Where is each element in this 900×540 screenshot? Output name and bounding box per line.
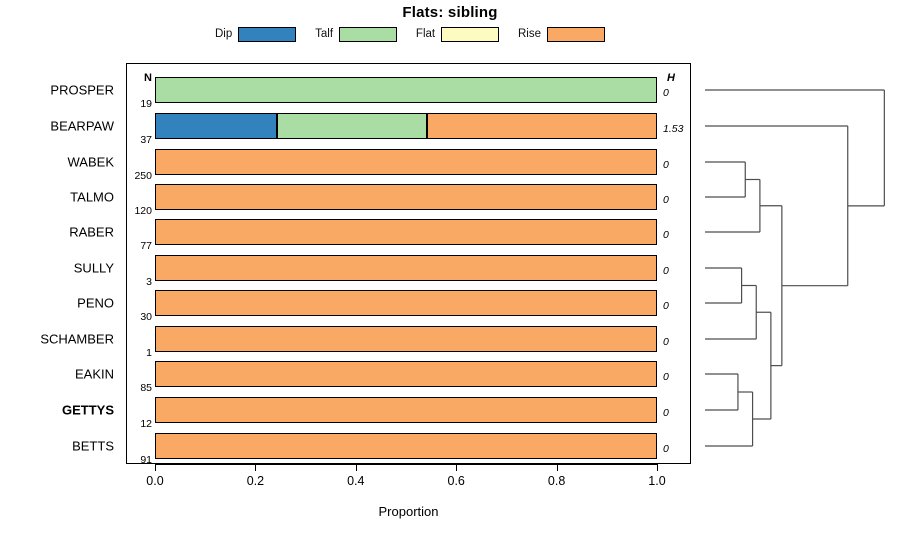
x-tick-label: 0.0 <box>146 474 163 488</box>
bar-segment-rise[interactable] <box>155 361 657 387</box>
legend-item-rise[interactable]: Rise <box>518 27 605 42</box>
bar-row-betts[interactable] <box>155 433 657 459</box>
chart-root: Flats: sibling DipTalfFlatRise PROSPERBE… <box>0 0 900 540</box>
h-value-sully: 0 <box>663 265 669 277</box>
legend-label: Talf <box>315 28 333 40</box>
n-value-bearpaw: 37 <box>140 134 152 146</box>
legend-label: Flat <box>416 28 435 40</box>
x-tick-label: 0.6 <box>447 474 464 488</box>
n-value-talmo: 120 <box>134 205 152 217</box>
x-axis-title: Proportion <box>126 504 691 519</box>
bar-row-gettys[interactable] <box>155 397 657 423</box>
x-tick <box>155 464 156 471</box>
n-value-sully: 3 <box>146 276 152 288</box>
legend-swatch-rise <box>547 27 605 42</box>
n-value-peno: 30 <box>140 311 152 323</box>
x-tick-label: 0.8 <box>548 474 565 488</box>
h-value-schamber: 0 <box>663 336 669 348</box>
legend-label: Rise <box>518 28 541 40</box>
h-value-prosper: 0 <box>663 87 669 99</box>
bar-row-schamber[interactable] <box>155 326 657 352</box>
category-label-sully: SULLY <box>74 261 114 276</box>
bar-row-raber[interactable] <box>155 219 657 245</box>
bar-segment-rise[interactable] <box>155 219 657 245</box>
bar-segment-rise[interactable] <box>427 113 657 139</box>
dendrogram <box>700 63 900 464</box>
h-value-betts: 0 <box>663 443 669 455</box>
bar-row-wabek[interactable] <box>155 149 657 175</box>
n-value-wabek: 250 <box>134 170 152 182</box>
category-label-eakin: EAKIN <box>75 367 114 382</box>
legend-label: Dip <box>215 28 232 40</box>
bar-segment-rise[interactable] <box>155 326 657 352</box>
x-tick <box>255 464 256 471</box>
bar-segment-talf[interactable] <box>155 77 657 103</box>
bar-segment-dip[interactable] <box>155 113 277 139</box>
category-label-wabek: WABEK <box>68 155 114 170</box>
bar-segment-talf[interactable] <box>277 113 427 139</box>
h-value-wabek: 0 <box>663 159 669 171</box>
h-value-raber: 0 <box>663 229 669 241</box>
n-value-eakin: 85 <box>140 382 152 394</box>
x-tick-label: 0.4 <box>347 474 364 488</box>
x-tick <box>456 464 457 471</box>
category-label-betts: BETTS <box>72 439 114 454</box>
category-label-bearpaw: BEARPAW <box>50 119 114 134</box>
bar-row-sully[interactable] <box>155 255 657 281</box>
h-value-peno: 0 <box>663 300 669 312</box>
x-axis-line <box>155 464 657 465</box>
category-label-prosper: PROSPER <box>50 83 114 98</box>
legend-item-talf[interactable]: Talf <box>315 27 397 42</box>
bar-segment-rise[interactable] <box>155 255 657 281</box>
legend-swatch-talf <box>339 27 397 42</box>
bar-row-prosper[interactable] <box>155 77 657 103</box>
h-value-gettys: 0 <box>663 407 669 419</box>
h-value-talmo: 0 <box>663 194 669 206</box>
bar-segment-rise[interactable] <box>155 290 657 316</box>
bar-segment-rise[interactable] <box>155 149 657 175</box>
n-value-prosper: 19 <box>140 98 152 110</box>
bar-row-bearpaw[interactable] <box>155 113 657 139</box>
h-column-header: H <box>667 72 675 84</box>
category-label-peno: PENO <box>77 296 114 311</box>
bar-row-peno[interactable] <box>155 290 657 316</box>
n-value-gettys: 12 <box>140 418 152 430</box>
x-tick <box>657 464 658 471</box>
x-tick-label: 1.0 <box>648 474 665 488</box>
bar-segment-rise[interactable] <box>155 184 657 210</box>
category-label-schamber: SCHAMBER <box>40 332 114 347</box>
category-label-gettys: GETTYS <box>62 403 114 418</box>
h-value-bearpaw: 1.53 <box>663 123 683 135</box>
bar-row-eakin[interactable] <box>155 361 657 387</box>
h-column: H01.53000000000 <box>657 63 691 464</box>
n-value-raber: 77 <box>140 240 152 252</box>
category-label-raber: RABER <box>69 225 114 240</box>
bar-segment-rise[interactable] <box>155 433 657 459</box>
x-tick <box>557 464 558 471</box>
x-tick <box>356 464 357 471</box>
chart-title: Flats: sibling <box>0 4 900 21</box>
h-value-eakin: 0 <box>663 371 669 383</box>
legend-item-flat[interactable]: Flat <box>416 27 499 42</box>
category-axis-labels: PROSPERBEARPAWWABEKTALMORABERSULLYPENOSC… <box>0 63 120 464</box>
bar-segment-rise[interactable] <box>155 397 657 423</box>
x-tick-label: 0.2 <box>247 474 264 488</box>
legend: DipTalfFlatRise <box>215 25 605 43</box>
bar-row-talmo[interactable] <box>155 184 657 210</box>
legend-swatch-flat <box>441 27 499 42</box>
n-column: N1937250120773301851291 <box>126 63 155 464</box>
legend-item-dip[interactable]: Dip <box>215 27 296 42</box>
n-column-header: N <box>144 72 152 84</box>
n-value-schamber: 1 <box>146 347 152 359</box>
category-label-talmo: TALMO <box>70 190 114 205</box>
legend-swatch-dip <box>238 27 296 42</box>
